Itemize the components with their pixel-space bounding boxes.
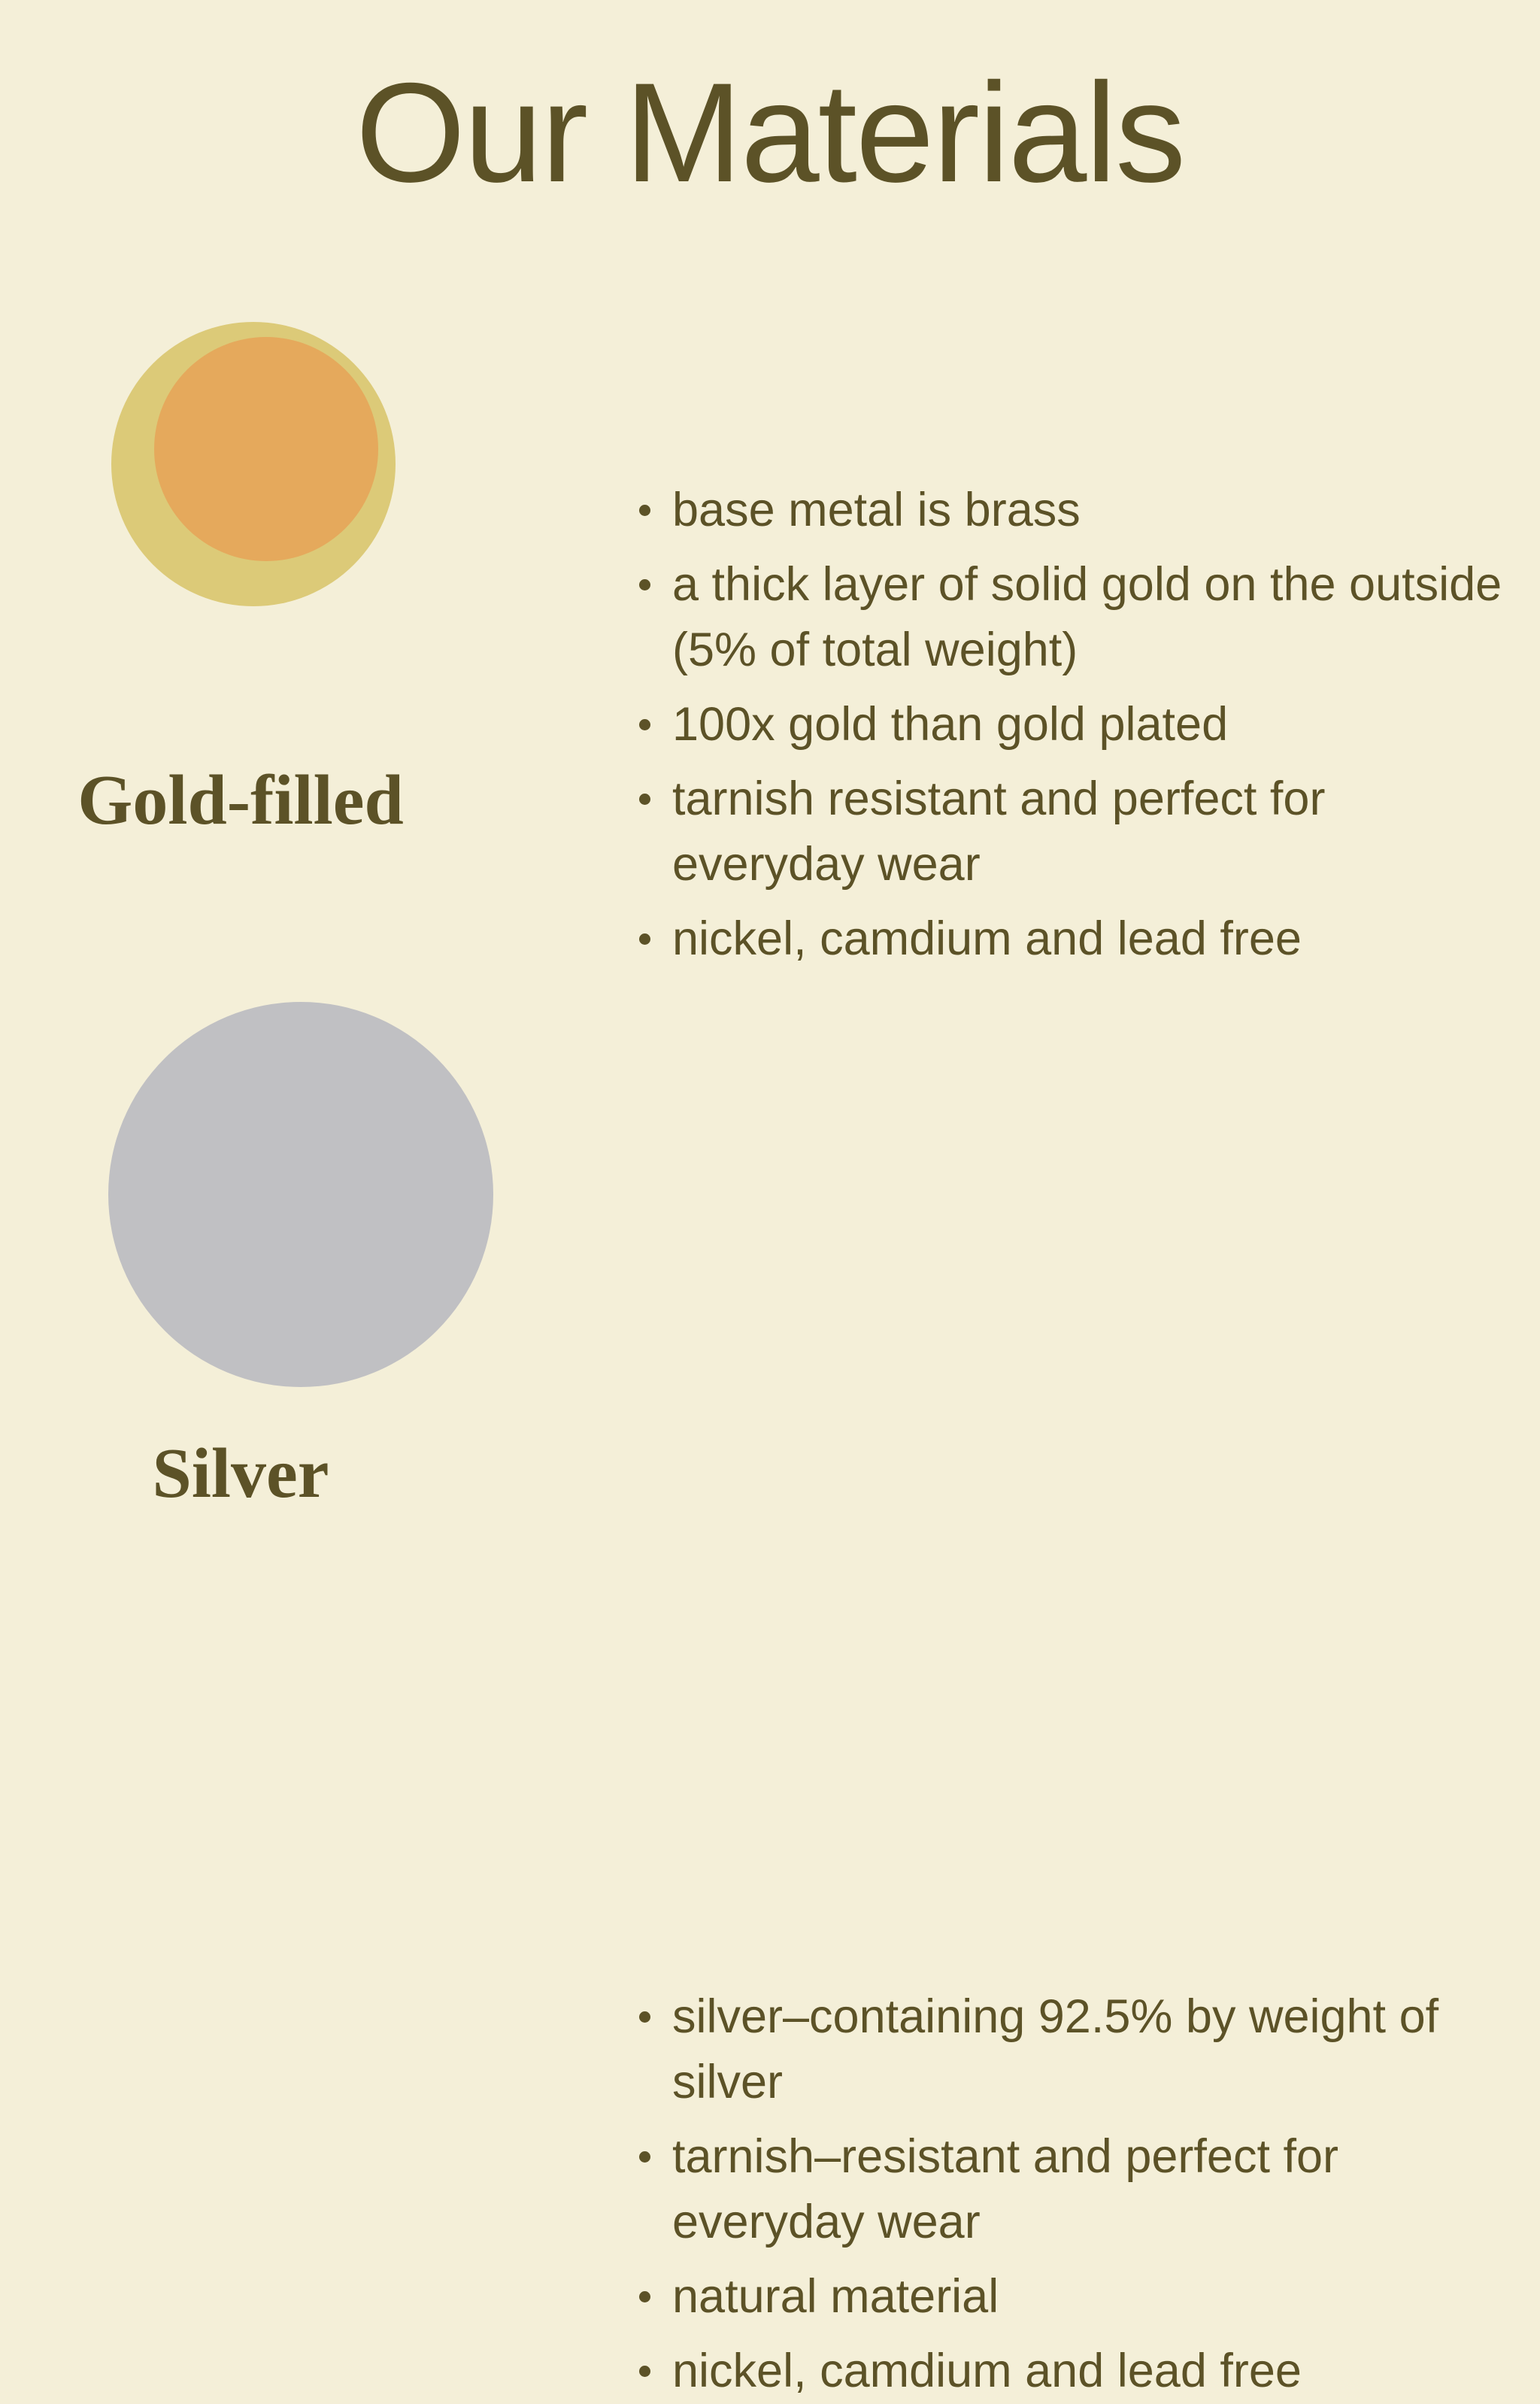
list-item: silver–containing 92.5% by weight of sil… [633,1984,1509,2115]
bullet-dot-icon [639,505,650,516]
bullet-dot-icon [639,794,650,805]
page-title: Our Materials [0,59,1540,207]
list-item-text: tarnish–resistant and perfect for everyd… [672,2130,1338,2248]
materials-poster: Our Materials base metal is brass a thic… [0,0,1540,1540]
bullet-dot-icon [639,2366,650,2377]
list-item-text: natural material [672,2270,999,2323]
gold-inner-circle-swatch [154,337,378,561]
bullet-dot-icon [639,2291,650,2302]
gold-filled-feature-list: base metal is brass a thick layer of sol… [633,478,1509,972]
bullet-dot-icon [639,2011,650,2023]
list-item-text: silver–containing 92.5% by weight of sil… [672,1990,1438,2108]
list-item-text: base metal is brass [672,484,1081,536]
list-item-text: tarnish resistant and perfect for everyd… [672,772,1325,891]
list-item: nickel, camdium and lead free [633,906,1509,972]
silver-feature-list: silver–containing 92.5% by weight of sil… [633,1984,1509,2404]
list-item: 100x gold than gold plated [633,692,1509,757]
list-item: natural material [633,2264,1509,2330]
list-item-text: nickel, camdium and lead free [672,912,1302,965]
list-item: tarnish–resistant and perfect for everyd… [633,2124,1509,2255]
material-label-silver: Silver [0,1433,481,1514]
bullet-dot-icon [639,933,650,945]
material-label-gold-filled: Gold-filled [0,760,481,841]
list-item-text: 100x gold than gold plated [672,698,1228,751]
silver-circle-swatch [108,1002,493,1387]
list-item-text: nickel, camdium and lead free [672,2345,1302,2397]
bullet-dot-icon [639,2151,650,2163]
bullet-dot-icon [639,719,650,730]
list-item-text: a thick layer of solid gold on the outsi… [672,558,1502,676]
list-item: tarnish resistant and perfect for everyd… [633,766,1509,897]
list-item: base metal is brass [633,478,1509,543]
list-item: a thick layer of solid gold on the outsi… [633,552,1509,683]
bullet-dot-icon [639,579,650,590]
list-item: nickel, camdium and lead free [633,2339,1509,2404]
